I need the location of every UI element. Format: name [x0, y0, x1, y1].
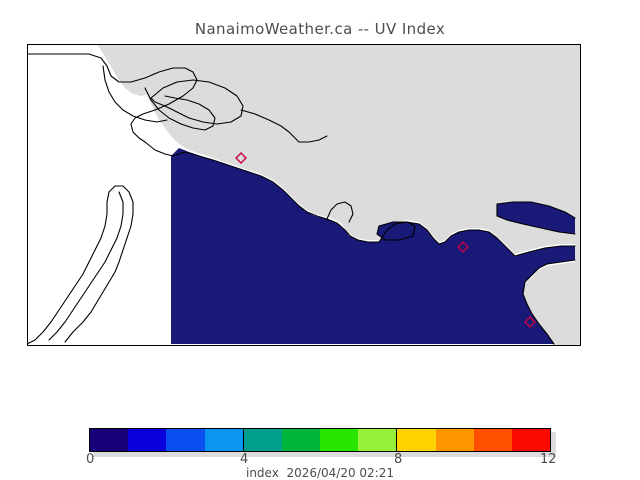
coastline-island-vancouver-west — [27, 186, 133, 344]
colorbar-segment-1 — [128, 429, 166, 451]
colorbar[interactable] — [89, 428, 551, 452]
colorbar-segment-11 — [512, 429, 550, 451]
colorbar-segment-8 — [396, 429, 435, 451]
page-title: NanaimoWeather.ca -- UV Index — [0, 20, 640, 38]
colorbar-segment-9 — [436, 429, 474, 451]
colorbar-shadow-bottom — [93, 452, 555, 457]
colorbar-segment-4 — [243, 429, 282, 451]
map-canvas — [27, 44, 581, 346]
colorbar-tick-8: 8 — [394, 452, 402, 467]
colorbar-segment-10 — [474, 429, 512, 451]
inlet-land-patch-a — [27, 44, 153, 96]
colorbar-caption: index 2026/04/20 02:21 — [0, 466, 640, 480]
colorbar-segment-0 — [90, 429, 128, 451]
colorbar-tick-4: 4 — [240, 452, 248, 467]
colorbar-segment-3 — [205, 429, 243, 451]
colorbar-segment-2 — [166, 429, 204, 451]
colorbar-segment-5 — [282, 429, 320, 451]
uv-index-map-page: NanaimoWeather.ca -- UV Index — [0, 0, 640, 480]
colorbar-segment-6 — [320, 429, 358, 451]
colorbar-scale[interactable] — [89, 428, 551, 452]
map-panel[interactable] — [27, 44, 581, 346]
colorbar-tick-12: 12 — [540, 452, 557, 467]
colorbar-segment-7 — [358, 429, 396, 451]
colorbar-tick-0: 0 — [86, 452, 94, 467]
